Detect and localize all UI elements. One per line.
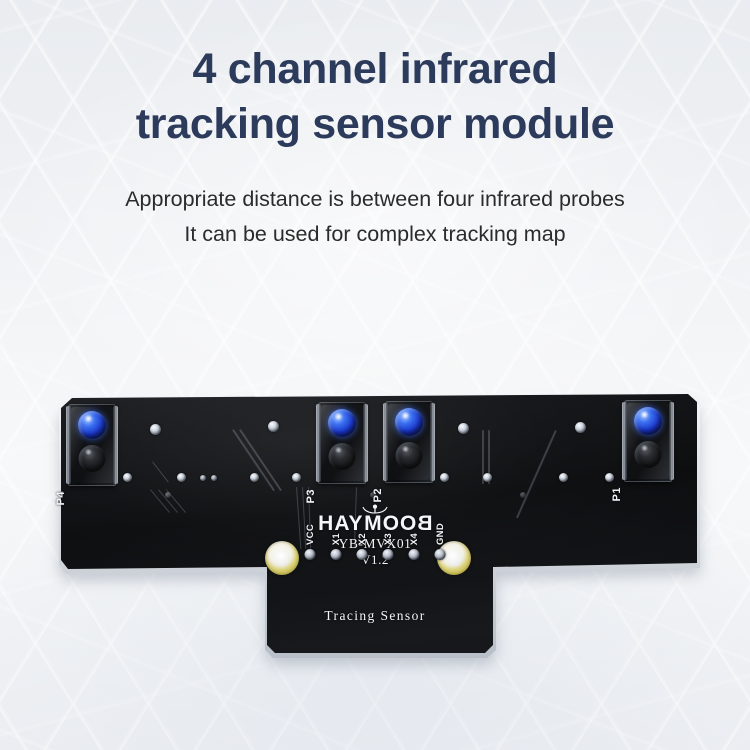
pin-pad[interactable] xyxy=(305,549,316,560)
board-name-label: Tracing Sensor xyxy=(324,608,425,624)
infrared-sensor-p3[interactable]: P3 xyxy=(318,402,366,484)
sensor-label: P4 xyxy=(55,491,67,505)
pin-label: X1 xyxy=(331,533,342,545)
pin-pad[interactable] xyxy=(357,549,368,560)
pin-label: X3 xyxy=(383,533,394,545)
sensor-clip-right xyxy=(113,406,118,484)
subtitle-line-1: Appropriate distance is between four inf… xyxy=(0,182,750,217)
mounting-hole-left[interactable] xyxy=(265,541,299,575)
pcb-via[interactable] xyxy=(605,473,614,482)
sensor-label: P2 xyxy=(372,488,384,502)
pin-label: X2 xyxy=(357,533,368,545)
pcb-via[interactable] xyxy=(268,421,279,432)
pin-pad[interactable] xyxy=(409,549,420,560)
subtitle-line-2: It can be used for complex tracking map xyxy=(0,217,750,252)
pcb-pad-mark xyxy=(200,475,206,481)
title-line-2: tracking sensor module xyxy=(0,97,750,152)
pin-pad[interactable] xyxy=(331,549,342,560)
infrared-sensor-p1[interactable]: P1 xyxy=(624,400,672,482)
brand-logo-right: BOOM xyxy=(364,512,433,536)
pcb-pad-mark xyxy=(165,492,171,498)
pin-label: VCC xyxy=(305,524,316,545)
pcb-via[interactable] xyxy=(250,473,259,482)
pcb-pad-mark xyxy=(211,475,217,481)
sensor-clip-right xyxy=(669,402,674,480)
pcb-via[interactable] xyxy=(458,423,469,434)
pcb-via[interactable] xyxy=(483,473,492,482)
pcb-pad-mark xyxy=(520,492,526,498)
sensor-label: P1 xyxy=(611,487,623,501)
pin-label: GND xyxy=(435,523,446,545)
pcb-via[interactable] xyxy=(123,473,132,482)
pcb-via[interactable] xyxy=(575,422,586,433)
model-number: YB-MVX01 xyxy=(338,536,411,552)
title-line-1: 4 channel infrared xyxy=(0,42,750,97)
pcb-via[interactable] xyxy=(292,473,301,482)
sensor-glass-sheen xyxy=(627,403,669,479)
infrared-sensor-p2[interactable]: P2 xyxy=(385,401,433,483)
page-title: 4 channel infrared tracking sensor modul… xyxy=(0,42,750,152)
product-banner: 4 channel infrared tracking sensor modul… xyxy=(0,0,750,750)
pcb-via[interactable] xyxy=(440,473,449,482)
pcb-via[interactable] xyxy=(559,473,568,482)
pin-pad[interactable] xyxy=(383,549,394,560)
sensor-glass-sheen xyxy=(321,405,363,481)
header-block: 4 channel infrared tracking sensor modul… xyxy=(0,0,750,252)
sensor-clip-right xyxy=(363,404,368,482)
pcb-via[interactable] xyxy=(150,424,161,435)
page-subtitle: Appropriate distance is between four inf… xyxy=(0,182,750,252)
pin-label: X4 xyxy=(409,533,420,545)
sensor-clip-right xyxy=(430,403,435,481)
sensor-label: P3 xyxy=(305,489,317,503)
infrared-sensor-p4[interactable]: P4 xyxy=(68,404,116,486)
pin-pad[interactable] xyxy=(435,549,446,560)
pcb-via[interactable] xyxy=(177,473,186,482)
sensor-glass-sheen xyxy=(71,407,113,483)
sensor-glass-sheen xyxy=(388,404,430,480)
